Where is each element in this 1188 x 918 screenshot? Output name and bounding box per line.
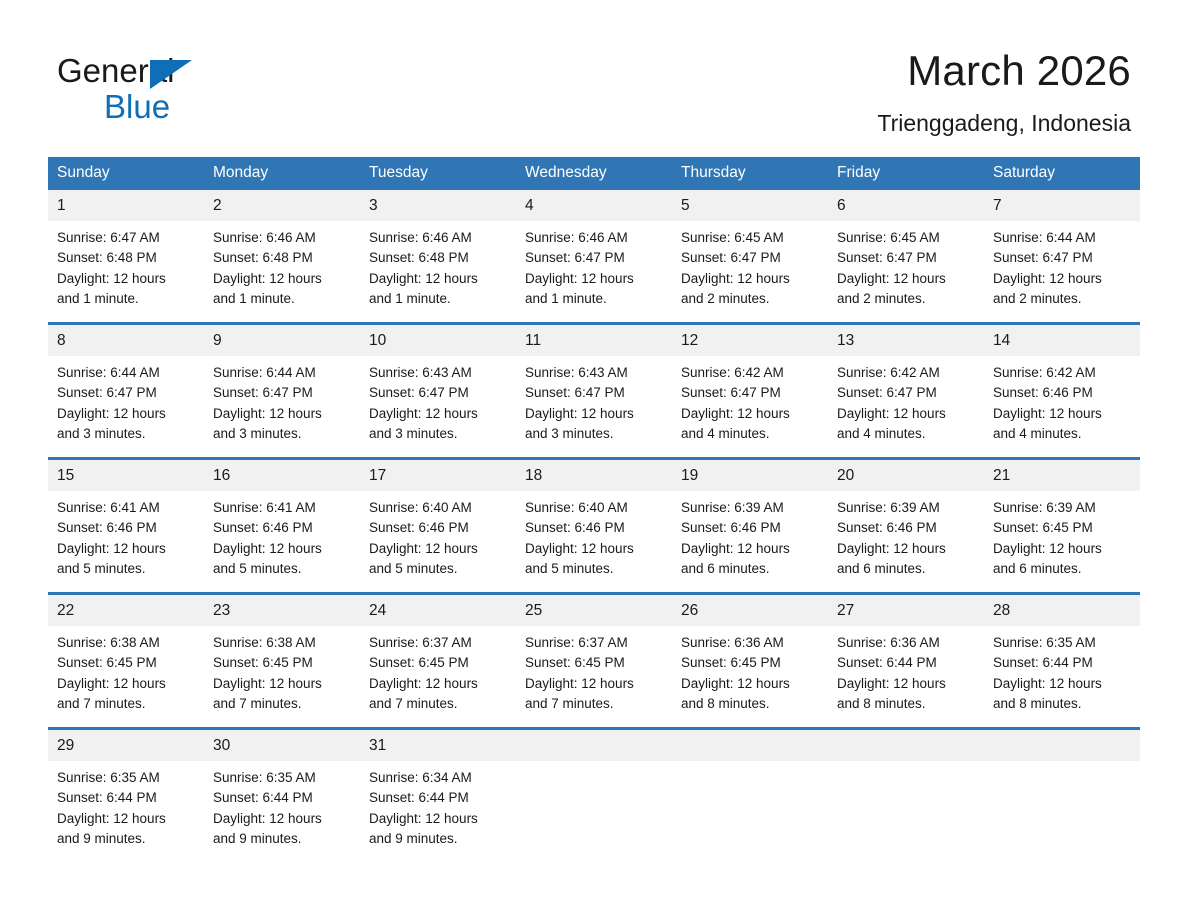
daylight-text-line2: and 4 minutes.: [993, 424, 1131, 444]
sunset-text: Sunset: 6:45 PM: [369, 653, 507, 673]
day-number: 16: [204, 460, 360, 491]
day-details: Sunrise: 6:38 AMSunset: 6:45 PMDaylight:…: [48, 626, 204, 714]
day-details: [672, 761, 828, 768]
calendar-day-cell[interactable]: 21Sunrise: 6:39 AMSunset: 6:45 PMDayligh…: [984, 459, 1140, 594]
sunset-text: Sunset: 6:47 PM: [837, 248, 975, 268]
daylight-text-line1: Daylight: 12 hours: [213, 539, 351, 559]
sunset-text: Sunset: 6:47 PM: [525, 383, 663, 403]
calendar-day-cell[interactable]: 14Sunrise: 6:42 AMSunset: 6:46 PMDayligh…: [984, 324, 1140, 459]
calendar-day-cell: [672, 729, 828, 863]
day-number: 21: [984, 460, 1140, 491]
day-details: [516, 761, 672, 768]
calendar-day-cell[interactable]: 2Sunrise: 6:46 AMSunset: 6:48 PMDaylight…: [204, 190, 360, 324]
day-details: Sunrise: 6:43 AMSunset: 6:47 PMDaylight:…: [516, 356, 672, 444]
sunset-text: Sunset: 6:44 PM: [57, 788, 195, 808]
calendar-day-cell[interactable]: 12Sunrise: 6:42 AMSunset: 6:47 PMDayligh…: [672, 324, 828, 459]
sunrise-text: Sunrise: 6:44 AM: [993, 228, 1131, 248]
sunset-text: Sunset: 6:46 PM: [525, 518, 663, 538]
daylight-text-line1: Daylight: 12 hours: [57, 404, 195, 424]
day-cell-body: [516, 730, 672, 862]
day-cell-body: 18Sunrise: 6:40 AMSunset: 6:46 PMDayligh…: [516, 460, 672, 592]
calendar-day-cell[interactable]: 29Sunrise: 6:35 AMSunset: 6:44 PMDayligh…: [48, 729, 204, 863]
calendar-header-row: Sunday Monday Tuesday Wednesday Thursday…: [48, 157, 1140, 190]
daylight-text-line2: and 9 minutes.: [213, 829, 351, 849]
day-number: 3: [360, 190, 516, 221]
day-number: 8: [48, 325, 204, 356]
day-number: 12: [672, 325, 828, 356]
day-cell-body: 1Sunrise: 6:47 AMSunset: 6:48 PMDaylight…: [48, 190, 204, 322]
daylight-text-line2: and 6 minutes.: [681, 559, 819, 579]
sunset-text: Sunset: 6:44 PM: [993, 653, 1131, 673]
day-number: 20: [828, 460, 984, 491]
daylight-text-line2: and 7 minutes.: [525, 694, 663, 714]
day-cell-body: 28Sunrise: 6:35 AMSunset: 6:44 PMDayligh…: [984, 595, 1140, 727]
day-cell-body: [672, 730, 828, 862]
daylight-text-line1: Daylight: 12 hours: [993, 269, 1131, 289]
day-number: 23: [204, 595, 360, 626]
daylight-text-line1: Daylight: 12 hours: [213, 404, 351, 424]
daylight-text-line2: and 5 minutes.: [369, 559, 507, 579]
day-details: Sunrise: 6:46 AMSunset: 6:48 PMDaylight:…: [204, 221, 360, 309]
calendar-day-cell[interactable]: 6Sunrise: 6:45 AMSunset: 6:47 PMDaylight…: [828, 190, 984, 324]
sunset-text: Sunset: 6:48 PM: [369, 248, 507, 268]
sunset-text: Sunset: 6:45 PM: [681, 653, 819, 673]
day-details: Sunrise: 6:41 AMSunset: 6:46 PMDaylight:…: [48, 491, 204, 579]
day-details: Sunrise: 6:39 AMSunset: 6:46 PMDaylight:…: [828, 491, 984, 579]
sunrise-text: Sunrise: 6:37 AM: [525, 633, 663, 653]
day-cell-body: 2Sunrise: 6:46 AMSunset: 6:48 PMDaylight…: [204, 190, 360, 322]
sunrise-text: Sunrise: 6:45 AM: [837, 228, 975, 248]
day-details: Sunrise: 6:40 AMSunset: 6:46 PMDaylight:…: [360, 491, 516, 579]
sunset-text: Sunset: 6:47 PM: [993, 248, 1131, 268]
day-details: Sunrise: 6:46 AMSunset: 6:47 PMDaylight:…: [516, 221, 672, 309]
daylight-text-line1: Daylight: 12 hours: [525, 269, 663, 289]
sunrise-text: Sunrise: 6:44 AM: [213, 363, 351, 383]
daylight-text-line2: and 1 minute.: [57, 289, 195, 309]
sunset-text: Sunset: 6:45 PM: [57, 653, 195, 673]
sunrise-text: Sunrise: 6:38 AM: [213, 633, 351, 653]
weekday-header-sunday: Sunday: [48, 157, 204, 190]
day-cell-body: 7Sunrise: 6:44 AMSunset: 6:47 PMDaylight…: [984, 190, 1140, 322]
calendar-day-cell[interactable]: 16Sunrise: 6:41 AMSunset: 6:46 PMDayligh…: [204, 459, 360, 594]
daylight-text-line1: Daylight: 12 hours: [369, 404, 507, 424]
day-details: Sunrise: 6:44 AMSunset: 6:47 PMDaylight:…: [984, 221, 1140, 309]
daylight-text-line2: and 5 minutes.: [525, 559, 663, 579]
day-number: 25: [516, 595, 672, 626]
sunset-text: Sunset: 6:46 PM: [369, 518, 507, 538]
calendar-day-cell[interactable]: 9Sunrise: 6:44 AMSunset: 6:47 PMDaylight…: [204, 324, 360, 459]
daylight-text-line1: Daylight: 12 hours: [369, 269, 507, 289]
calendar-week-row: 1Sunrise: 6:47 AMSunset: 6:48 PMDaylight…: [48, 190, 1140, 324]
day-details: Sunrise: 6:47 AMSunset: 6:48 PMDaylight:…: [48, 221, 204, 309]
daylight-text-line1: Daylight: 12 hours: [369, 539, 507, 559]
calendar-day-cell[interactable]: 11Sunrise: 6:43 AMSunset: 6:47 PMDayligh…: [516, 324, 672, 459]
daylight-text-line2: and 5 minutes.: [213, 559, 351, 579]
sunset-text: Sunset: 6:47 PM: [837, 383, 975, 403]
day-details: Sunrise: 6:37 AMSunset: 6:45 PMDaylight:…: [516, 626, 672, 714]
day-details: Sunrise: 6:35 AMSunset: 6:44 PMDaylight:…: [48, 761, 204, 849]
day-cell-body: 3Sunrise: 6:46 AMSunset: 6:48 PMDaylight…: [360, 190, 516, 322]
day-cell-body: 22Sunrise: 6:38 AMSunset: 6:45 PMDayligh…: [48, 595, 204, 727]
day-cell-body: 23Sunrise: 6:38 AMSunset: 6:45 PMDayligh…: [204, 595, 360, 727]
sunrise-text: Sunrise: 6:41 AM: [213, 498, 351, 518]
daylight-text-line1: Daylight: 12 hours: [681, 269, 819, 289]
calendar-week-row: 22Sunrise: 6:38 AMSunset: 6:45 PMDayligh…: [48, 594, 1140, 729]
sunset-text: Sunset: 6:46 PM: [837, 518, 975, 538]
daylight-text-line1: Daylight: 12 hours: [213, 809, 351, 829]
daylight-text-line1: Daylight: 12 hours: [837, 404, 975, 424]
day-details: Sunrise: 6:42 AMSunset: 6:47 PMDaylight:…: [828, 356, 984, 444]
day-number: 7: [984, 190, 1140, 221]
day-number: 29: [48, 730, 204, 761]
day-cell-body: 26Sunrise: 6:36 AMSunset: 6:45 PMDayligh…: [672, 595, 828, 727]
day-cell-body: 5Sunrise: 6:45 AMSunset: 6:47 PMDaylight…: [672, 190, 828, 322]
day-cell-body: 11Sunrise: 6:43 AMSunset: 6:47 PMDayligh…: [516, 325, 672, 457]
calendar-day-cell: [828, 729, 984, 863]
day-number: [672, 730, 828, 761]
sunrise-text: Sunrise: 6:41 AM: [57, 498, 195, 518]
day-number: 10: [360, 325, 516, 356]
day-number: 30: [204, 730, 360, 761]
day-cell-body: 14Sunrise: 6:42 AMSunset: 6:46 PMDayligh…: [984, 325, 1140, 457]
day-details: Sunrise: 6:35 AMSunset: 6:44 PMDaylight:…: [984, 626, 1140, 714]
page-title: March 2026: [491, 46, 1131, 96]
calendar-day-cell[interactable]: 25Sunrise: 6:37 AMSunset: 6:45 PMDayligh…: [516, 594, 672, 729]
day-cell-body: 31Sunrise: 6:34 AMSunset: 6:44 PMDayligh…: [360, 730, 516, 862]
calendar-day-cell[interactable]: 13Sunrise: 6:42 AMSunset: 6:47 PMDayligh…: [828, 324, 984, 459]
calendar-week-row: 29Sunrise: 6:35 AMSunset: 6:44 PMDayligh…: [48, 729, 1140, 863]
daylight-text-line1: Daylight: 12 hours: [369, 809, 507, 829]
calendar-day-cell[interactable]: 3Sunrise: 6:46 AMSunset: 6:48 PMDaylight…: [360, 190, 516, 324]
daylight-text-line2: and 4 minutes.: [837, 424, 975, 444]
sunset-text: Sunset: 6:47 PM: [681, 383, 819, 403]
day-number: 4: [516, 190, 672, 221]
day-details: [828, 761, 984, 768]
sunset-text: Sunset: 6:47 PM: [213, 383, 351, 403]
day-cell-body: 20Sunrise: 6:39 AMSunset: 6:46 PMDayligh…: [828, 460, 984, 592]
sunrise-text: Sunrise: 6:39 AM: [837, 498, 975, 518]
sunset-text: Sunset: 6:47 PM: [57, 383, 195, 403]
day-cell-body: 27Sunrise: 6:36 AMSunset: 6:44 PMDayligh…: [828, 595, 984, 727]
daylight-text-line2: and 9 minutes.: [57, 829, 195, 849]
day-cell-body: 29Sunrise: 6:35 AMSunset: 6:44 PMDayligh…: [48, 730, 204, 862]
day-details: Sunrise: 6:36 AMSunset: 6:45 PMDaylight:…: [672, 626, 828, 714]
day-number: 5: [672, 190, 828, 221]
daylight-text-line1: Daylight: 12 hours: [837, 269, 975, 289]
sunset-text: Sunset: 6:46 PM: [57, 518, 195, 538]
daylight-text-line1: Daylight: 12 hours: [525, 539, 663, 559]
sunrise-text: Sunrise: 6:44 AM: [57, 363, 195, 383]
weekday-header-friday: Friday: [828, 157, 984, 190]
sunrise-text: Sunrise: 6:35 AM: [57, 768, 195, 788]
sunrise-text: Sunrise: 6:38 AM: [57, 633, 195, 653]
calendar-day-cell[interactable]: 8Sunrise: 6:44 AMSunset: 6:47 PMDaylight…: [48, 324, 204, 459]
sunset-text: Sunset: 6:45 PM: [993, 518, 1131, 538]
daylight-text-line2: and 7 minutes.: [213, 694, 351, 714]
calendar-day-cell[interactable]: 24Sunrise: 6:37 AMSunset: 6:45 PMDayligh…: [360, 594, 516, 729]
sunrise-text: Sunrise: 6:42 AM: [837, 363, 975, 383]
daylight-text-line2: and 2 minutes.: [993, 289, 1131, 309]
day-number: 22: [48, 595, 204, 626]
day-details: Sunrise: 6:44 AMSunset: 6:47 PMDaylight:…: [48, 356, 204, 444]
sunrise-text: Sunrise: 6:46 AM: [525, 228, 663, 248]
day-number: [984, 730, 1140, 761]
weekday-header-wednesday: Wednesday: [516, 157, 672, 190]
daylight-text-line1: Daylight: 12 hours: [837, 539, 975, 559]
daylight-text-line2: and 1 minute.: [369, 289, 507, 309]
general-blue-logo: General Blue: [57, 52, 357, 132]
day-cell-body: 19Sunrise: 6:39 AMSunset: 6:46 PMDayligh…: [672, 460, 828, 592]
sunset-text: Sunset: 6:47 PM: [369, 383, 507, 403]
day-number: 24: [360, 595, 516, 626]
daylight-text-line1: Daylight: 12 hours: [681, 404, 819, 424]
day-cell-body: 8Sunrise: 6:44 AMSunset: 6:47 PMDaylight…: [48, 325, 204, 457]
sunrise-text: Sunrise: 6:40 AM: [369, 498, 507, 518]
day-cell-body: 17Sunrise: 6:40 AMSunset: 6:46 PMDayligh…: [360, 460, 516, 592]
day-number: 27: [828, 595, 984, 626]
sunrise-text: Sunrise: 6:46 AM: [213, 228, 351, 248]
sunset-text: Sunset: 6:44 PM: [369, 788, 507, 808]
sunrise-text: Sunrise: 6:34 AM: [369, 768, 507, 788]
calendar-day-cell[interactable]: 7Sunrise: 6:44 AMSunset: 6:47 PMDaylight…: [984, 190, 1140, 324]
daylight-text-line2: and 3 minutes.: [57, 424, 195, 444]
sunset-text: Sunset: 6:47 PM: [681, 248, 819, 268]
day-details: Sunrise: 6:37 AMSunset: 6:45 PMDaylight:…: [360, 626, 516, 714]
day-cell-body: 15Sunrise: 6:41 AMSunset: 6:46 PMDayligh…: [48, 460, 204, 592]
sunset-text: Sunset: 6:44 PM: [213, 788, 351, 808]
daylight-text-line1: Daylight: 12 hours: [57, 539, 195, 559]
daylight-text-line2: and 8 minutes.: [837, 694, 975, 714]
daylight-text-line2: and 1 minute.: [213, 289, 351, 309]
logo-text-blue: Blue: [104, 88, 170, 126]
day-number: 28: [984, 595, 1140, 626]
sunrise-text: Sunrise: 6:47 AM: [57, 228, 195, 248]
calendar-day-cell[interactable]: 31Sunrise: 6:34 AMSunset: 6:44 PMDayligh…: [360, 729, 516, 863]
page-header: General Blue March 2026 Trienggadeng, In…: [0, 0, 1188, 155]
day-number: 1: [48, 190, 204, 221]
day-cell-body: 16Sunrise: 6:41 AMSunset: 6:46 PMDayligh…: [204, 460, 360, 592]
calendar-day-cell[interactable]: 10Sunrise: 6:43 AMSunset: 6:47 PMDayligh…: [360, 324, 516, 459]
sunrise-text: Sunrise: 6:42 AM: [993, 363, 1131, 383]
daylight-text-line2: and 5 minutes.: [57, 559, 195, 579]
day-number: 2: [204, 190, 360, 221]
calendar-grid: Sunday Monday Tuesday Wednesday Thursday…: [48, 157, 1140, 862]
sunrise-text: Sunrise: 6:37 AM: [369, 633, 507, 653]
daylight-text-line1: Daylight: 12 hours: [213, 269, 351, 289]
sunrise-text: Sunrise: 6:35 AM: [213, 768, 351, 788]
day-cell-body: [828, 730, 984, 862]
daylight-text-line2: and 1 minute.: [525, 289, 663, 309]
location-subtitle: Trienggadeng, Indonesia: [491, 109, 1131, 137]
weekday-header-thursday: Thursday: [672, 157, 828, 190]
daylight-text-line2: and 7 minutes.: [369, 694, 507, 714]
calendar-day-cell[interactable]: 5Sunrise: 6:45 AMSunset: 6:47 PMDaylight…: [672, 190, 828, 324]
sunset-text: Sunset: 6:47 PM: [525, 248, 663, 268]
calendar-day-cell[interactable]: 22Sunrise: 6:38 AMSunset: 6:45 PMDayligh…: [48, 594, 204, 729]
day-details: Sunrise: 6:36 AMSunset: 6:44 PMDaylight:…: [828, 626, 984, 714]
daylight-text-line1: Daylight: 12 hours: [57, 674, 195, 694]
day-number: 15: [48, 460, 204, 491]
daylight-text-line1: Daylight: 12 hours: [213, 674, 351, 694]
sunrise-text: Sunrise: 6:39 AM: [681, 498, 819, 518]
calendar-week-row: 15Sunrise: 6:41 AMSunset: 6:46 PMDayligh…: [48, 459, 1140, 594]
calendar-day-cell: [984, 729, 1140, 863]
day-details: Sunrise: 6:34 AMSunset: 6:44 PMDaylight:…: [360, 761, 516, 849]
calendar-day-cell[interactable]: 20Sunrise: 6:39 AMSunset: 6:46 PMDayligh…: [828, 459, 984, 594]
daylight-text-line1: Daylight: 12 hours: [57, 269, 195, 289]
calendar-day-cell: [516, 729, 672, 863]
daylight-text-line2: and 8 minutes.: [681, 694, 819, 714]
calendar-day-cell[interactable]: 23Sunrise: 6:38 AMSunset: 6:45 PMDayligh…: [204, 594, 360, 729]
day-cell-body: 24Sunrise: 6:37 AMSunset: 6:45 PMDayligh…: [360, 595, 516, 727]
weekday-header-monday: Monday: [204, 157, 360, 190]
title-block: March 2026 Trienggadeng, Indonesia: [491, 46, 1131, 137]
day-details: Sunrise: 6:39 AMSunset: 6:46 PMDaylight:…: [672, 491, 828, 579]
daylight-text-line2: and 3 minutes.: [525, 424, 663, 444]
calendar-body: 1Sunrise: 6:47 AMSunset: 6:48 PMDaylight…: [48, 190, 1140, 862]
day-details: Sunrise: 6:38 AMSunset: 6:45 PMDaylight:…: [204, 626, 360, 714]
sunset-text: Sunset: 6:45 PM: [213, 653, 351, 673]
day-cell-body: 21Sunrise: 6:39 AMSunset: 6:45 PMDayligh…: [984, 460, 1140, 592]
calendar-day-cell[interactable]: 28Sunrise: 6:35 AMSunset: 6:44 PMDayligh…: [984, 594, 1140, 729]
day-number: 9: [204, 325, 360, 356]
sunrise-text: Sunrise: 6:39 AM: [993, 498, 1131, 518]
day-number: 19: [672, 460, 828, 491]
sunset-text: Sunset: 6:48 PM: [213, 248, 351, 268]
calendar-week-row: 8Sunrise: 6:44 AMSunset: 6:47 PMDaylight…: [48, 324, 1140, 459]
daylight-text-line2: and 4 minutes.: [681, 424, 819, 444]
daylight-text-line2: and 6 minutes.: [837, 559, 975, 579]
day-number: 11: [516, 325, 672, 356]
sunrise-text: Sunrise: 6:43 AM: [525, 363, 663, 383]
sunset-text: Sunset: 6:48 PM: [57, 248, 195, 268]
daylight-text-line2: and 9 minutes.: [369, 829, 507, 849]
day-number: 17: [360, 460, 516, 491]
day-cell-body: [984, 730, 1140, 862]
daylight-text-line2: and 3 minutes.: [213, 424, 351, 444]
daylight-text-line1: Daylight: 12 hours: [681, 539, 819, 559]
sunset-text: Sunset: 6:46 PM: [993, 383, 1131, 403]
day-number: 14: [984, 325, 1140, 356]
weekday-header-saturday: Saturday: [984, 157, 1140, 190]
weekday-header-tuesday: Tuesday: [360, 157, 516, 190]
day-details: Sunrise: 6:41 AMSunset: 6:46 PMDaylight:…: [204, 491, 360, 579]
day-details: [984, 761, 1140, 768]
day-number: 26: [672, 595, 828, 626]
day-details: Sunrise: 6:35 AMSunset: 6:44 PMDaylight:…: [204, 761, 360, 849]
day-details: Sunrise: 6:40 AMSunset: 6:46 PMDaylight:…: [516, 491, 672, 579]
calendar-page: General Blue March 2026 Trienggadeng, In…: [0, 0, 1188, 918]
logo-triangle-icon: [150, 60, 192, 89]
calendar-day-cell[interactable]: 15Sunrise: 6:41 AMSunset: 6:46 PMDayligh…: [48, 459, 204, 594]
day-number: [516, 730, 672, 761]
day-number: [828, 730, 984, 761]
daylight-text-line1: Daylight: 12 hours: [525, 674, 663, 694]
sunrise-text: Sunrise: 6:42 AM: [681, 363, 819, 383]
day-cell-body: 6Sunrise: 6:45 AMSunset: 6:47 PMDaylight…: [828, 190, 984, 322]
day-details: Sunrise: 6:46 AMSunset: 6:48 PMDaylight:…: [360, 221, 516, 309]
calendar-day-cell[interactable]: 19Sunrise: 6:39 AMSunset: 6:46 PMDayligh…: [672, 459, 828, 594]
sunrise-text: Sunrise: 6:43 AM: [369, 363, 507, 383]
calendar-day-cell[interactable]: 1Sunrise: 6:47 AMSunset: 6:48 PMDaylight…: [48, 190, 204, 324]
daylight-text-line1: Daylight: 12 hours: [57, 809, 195, 829]
calendar-day-cell[interactable]: 30Sunrise: 6:35 AMSunset: 6:44 PMDayligh…: [204, 729, 360, 863]
sunrise-text: Sunrise: 6:40 AM: [525, 498, 663, 518]
daylight-text-line2: and 2 minutes.: [837, 289, 975, 309]
daylight-text-line2: and 3 minutes.: [369, 424, 507, 444]
day-number: 6: [828, 190, 984, 221]
day-cell-body: 10Sunrise: 6:43 AMSunset: 6:47 PMDayligh…: [360, 325, 516, 457]
sunset-text: Sunset: 6:46 PM: [681, 518, 819, 538]
day-number: 13: [828, 325, 984, 356]
day-cell-body: 30Sunrise: 6:35 AMSunset: 6:44 PMDayligh…: [204, 730, 360, 862]
day-details: Sunrise: 6:39 AMSunset: 6:45 PMDaylight:…: [984, 491, 1140, 579]
sunrise-text: Sunrise: 6:35 AM: [993, 633, 1131, 653]
day-cell-body: 13Sunrise: 6:42 AMSunset: 6:47 PMDayligh…: [828, 325, 984, 457]
day-details: Sunrise: 6:45 AMSunset: 6:47 PMDaylight:…: [828, 221, 984, 309]
daylight-text-line1: Daylight: 12 hours: [369, 674, 507, 694]
day-cell-body: 12Sunrise: 6:42 AMSunset: 6:47 PMDayligh…: [672, 325, 828, 457]
sunset-text: Sunset: 6:44 PM: [837, 653, 975, 673]
day-number: 18: [516, 460, 672, 491]
daylight-text-line1: Daylight: 12 hours: [525, 404, 663, 424]
sunrise-text: Sunrise: 6:36 AM: [681, 633, 819, 653]
calendar-day-cell[interactable]: 18Sunrise: 6:40 AMSunset: 6:46 PMDayligh…: [516, 459, 672, 594]
sunrise-text: Sunrise: 6:46 AM: [369, 228, 507, 248]
daylight-text-line2: and 2 minutes.: [681, 289, 819, 309]
sunrise-text: Sunrise: 6:36 AM: [837, 633, 975, 653]
sunrise-text: Sunrise: 6:45 AM: [681, 228, 819, 248]
calendar-day-cell[interactable]: 4Sunrise: 6:46 AMSunset: 6:47 PMDaylight…: [516, 190, 672, 324]
calendar-day-cell[interactable]: 27Sunrise: 6:36 AMSunset: 6:44 PMDayligh…: [828, 594, 984, 729]
day-details: Sunrise: 6:45 AMSunset: 6:47 PMDaylight:…: [672, 221, 828, 309]
daylight-text-line1: Daylight: 12 hours: [993, 539, 1131, 559]
day-cell-body: 25Sunrise: 6:37 AMSunset: 6:45 PMDayligh…: [516, 595, 672, 727]
sunset-text: Sunset: 6:45 PM: [525, 653, 663, 673]
day-cell-body: 4Sunrise: 6:46 AMSunset: 6:47 PMDaylight…: [516, 190, 672, 322]
daylight-text-line1: Daylight: 12 hours: [993, 404, 1131, 424]
daylight-text-line2: and 8 minutes.: [993, 694, 1131, 714]
daylight-text-line2: and 7 minutes.: [57, 694, 195, 714]
daylight-text-line1: Daylight: 12 hours: [993, 674, 1131, 694]
daylight-text-line1: Daylight: 12 hours: [837, 674, 975, 694]
calendar-day-cell[interactable]: 17Sunrise: 6:40 AMSunset: 6:46 PMDayligh…: [360, 459, 516, 594]
sunset-text: Sunset: 6:46 PM: [213, 518, 351, 538]
day-number: 31: [360, 730, 516, 761]
day-details: Sunrise: 6:42 AMSunset: 6:46 PMDaylight:…: [984, 356, 1140, 444]
day-cell-body: 9Sunrise: 6:44 AMSunset: 6:47 PMDaylight…: [204, 325, 360, 457]
daylight-text-line2: and 6 minutes.: [993, 559, 1131, 579]
day-details: Sunrise: 6:43 AMSunset: 6:47 PMDaylight:…: [360, 356, 516, 444]
day-details: Sunrise: 6:42 AMSunset: 6:47 PMDaylight:…: [672, 356, 828, 444]
day-details: Sunrise: 6:44 AMSunset: 6:47 PMDaylight:…: [204, 356, 360, 444]
daylight-text-line1: Daylight: 12 hours: [681, 674, 819, 694]
calendar-day-cell[interactable]: 26Sunrise: 6:36 AMSunset: 6:45 PMDayligh…: [672, 594, 828, 729]
